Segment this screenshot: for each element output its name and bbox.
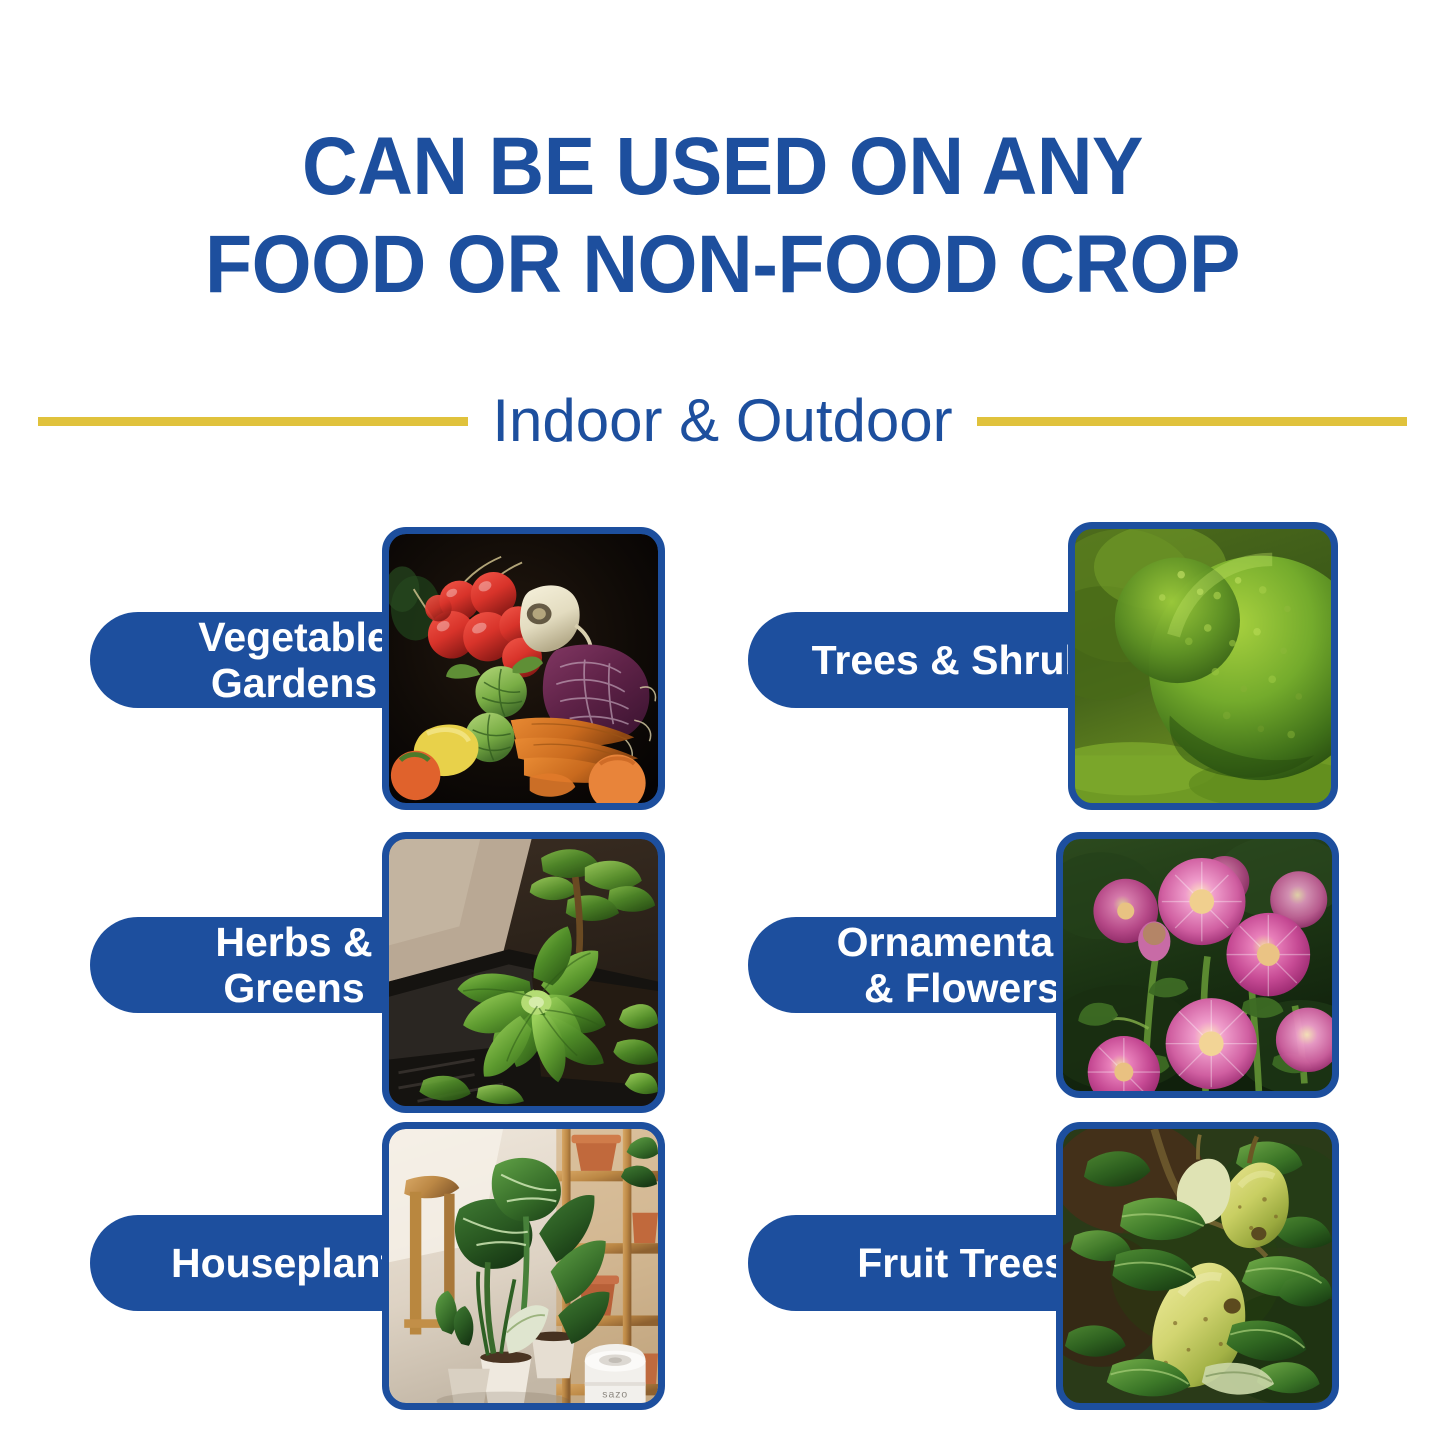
ornamentals-and-flowers-photo	[1063, 839, 1332, 1091]
crop-label-text: Herbs & Greens	[181, 919, 398, 1011]
crop-label-text: Fruit Trees	[823, 1240, 1093, 1286]
crop-photo-card[interactable]	[1056, 832, 1339, 1098]
herbs-and-greens-photo	[389, 839, 658, 1106]
crop-photo-card[interactable]	[382, 527, 665, 810]
crop-label-text: Vegetable Gardens	[164, 614, 415, 706]
crop-photo-card[interactable]: sazo	[382, 1122, 665, 1410]
houseplants-photo: sazo	[389, 1129, 658, 1403]
trees-and-shrubs-photo	[1075, 529, 1331, 803]
crop-photo-card[interactable]	[382, 832, 665, 1113]
crop-photo-card[interactable]	[1056, 1122, 1339, 1410]
crop-photo-card[interactable]	[1068, 522, 1338, 810]
svg-text:sazo: sazo	[602, 1389, 628, 1400]
vegetable-gardens-photo	[389, 534, 658, 803]
fruit-trees-photo	[1063, 1129, 1332, 1403]
crop-type-grid: Vegetable Gardens	[0, 0, 1445, 1445]
